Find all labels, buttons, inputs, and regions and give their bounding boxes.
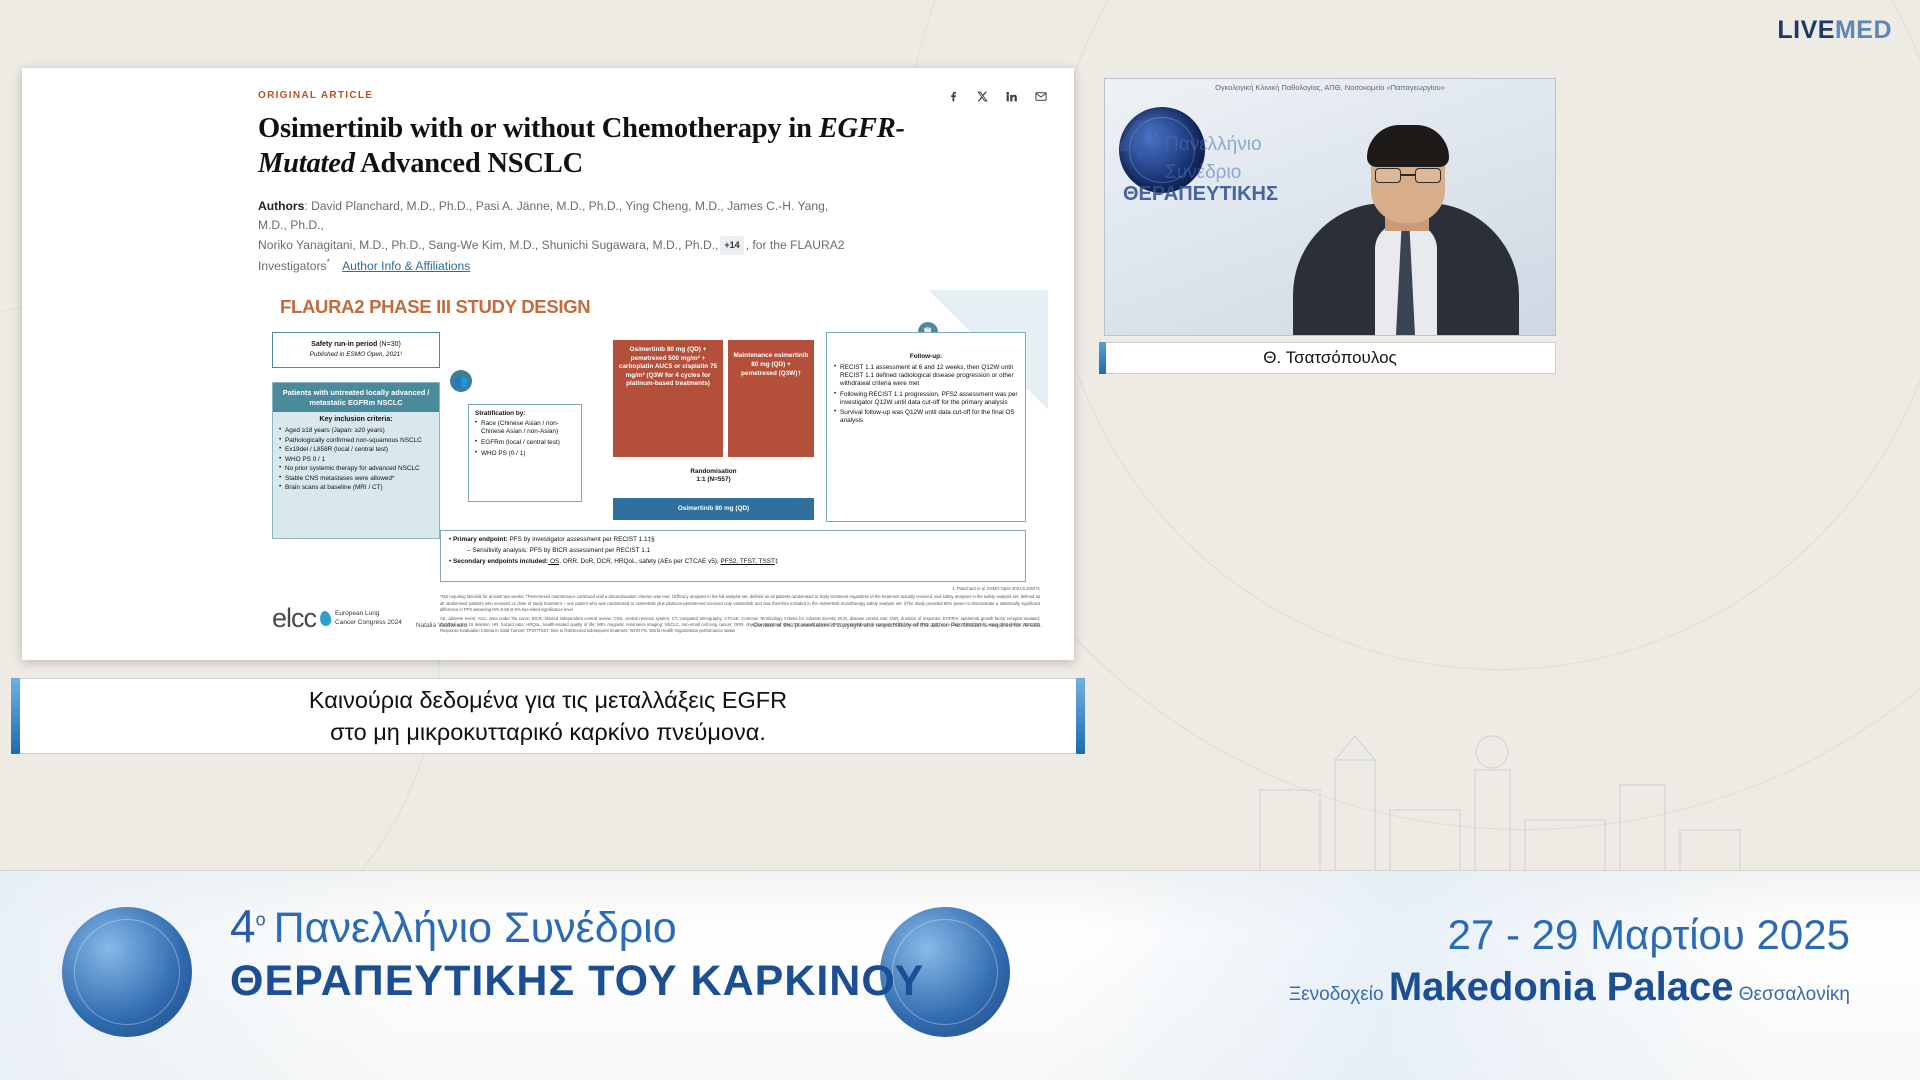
- banner-edition-number: 4ο: [230, 899, 266, 953]
- patients-population-box: Patients with untreated locally advanced…: [272, 382, 440, 539]
- primary-endpoint-row: • Primary endpoint: PFS by investigator …: [449, 536, 1017, 544]
- glasses-icon: [1375, 168, 1441, 183]
- banner-venue: Ξενοδοχείο Makedonia Palace Θεσσαλονίκη: [1289, 965, 1850, 1010]
- stratification-list: Race (Chinese Asian / non-Chinese Asian …: [475, 420, 575, 458]
- speaker-figure: [1293, 113, 1519, 335]
- figure-footer: elcc European Lung Cancer Congress 2024 …: [272, 603, 1042, 634]
- randomisation-label: Randomisation 1:1 (N=557): [613, 462, 814, 496]
- backdrop-number-sup: ο: [1150, 122, 1162, 144]
- speaker-name: Θ. Τσατσόπουλος: [1263, 348, 1397, 368]
- title-part-2: Advanced NSCLC: [355, 148, 583, 179]
- follow-up-header: Follow-up:: [834, 353, 1018, 361]
- backdrop-line-1: Πανελλήνιο: [1165, 134, 1262, 155]
- video-affiliation-caption: Ογκολογική Κλινική Παθολογίας, ΑΠΘ, Νοσο…: [1105, 83, 1555, 92]
- elcc-subtitle: European Lung Cancer Congress 2024: [335, 610, 402, 626]
- list-item: WHO PS 0 / 1: [279, 456, 434, 464]
- treatment-arm-maintenance-box: Maintenance osimertinib 80 mg (QD) + pem…: [728, 340, 814, 457]
- banner-venue-name: Makedonia Palace: [1389, 965, 1734, 1009]
- primary-endpoint-text: PFS by investigator assessment per RECIS…: [508, 536, 655, 543]
- banner-title-line-1: Πανελλήνιο Συνέδριο: [274, 904, 677, 953]
- title-em-1: EGFR-: [819, 113, 905, 144]
- secondary-endpoint-text: , ORR, DoR, DCR, HRQoL, safety (AEs per …: [559, 558, 720, 565]
- copyright-note: Content of this presentation is copyrigh…: [753, 622, 1042, 629]
- authors-line-2-tail: , for the FLAURA2: [746, 238, 845, 252]
- congress-banner: 4οΠανελλήνιο Συνέδριο ΘΕΡΑΠΕΥΤΙΚΗΣ ΤΟΥ Κ…: [0, 870, 1920, 1080]
- list-item: No prior systemic therapy for advanced N…: [279, 465, 434, 473]
- title-em-2: Mutated: [258, 148, 355, 179]
- livemed-med-text: MED: [1835, 16, 1892, 44]
- page-title: Osimertinib with or without Chemotherapy…: [258, 112, 1048, 182]
- list-item: Aged ≥18 years (Japan: ≥20 years): [279, 427, 434, 435]
- authors-block: Authors: David Planchard, M.D., Ph.D., P…: [258, 197, 858, 277]
- list-item: Ex19del / L858R (local / central test): [279, 446, 434, 454]
- flaura2-study-design-figure: FLAURA2 PHASE III STUDY DESIGN Safety ru…: [258, 290, 1048, 638]
- list-item: Following RECIST 1.1 progression, PFS2 a…: [834, 391, 1018, 407]
- list-item: Race (Chinese Asian / non-Chinese Asian …: [475, 420, 575, 436]
- safety-run-in-box: Safety run-in period (N=30) Published in…: [272, 332, 440, 368]
- banner-left-text: 4οΠανελλήνιο Συνέδριο ΘΕΡΑΠΕΥΤΙΚΗΣ ΤΟΥ Κ…: [230, 899, 924, 1006]
- follow-up-box: Follow-up: RECIST 1.1 assessment at 6 an…: [826, 332, 1026, 522]
- app-root: LIVEMED ORIGINAL ARTICLE Osimertinib wit…: [0, 0, 1920, 1080]
- secondary-os: OS: [548, 558, 559, 565]
- banner-venue-prefix: Ξενοδοχείο: [1289, 984, 1389, 1005]
- globe-icon-left: [62, 907, 192, 1037]
- banner-dates-range: 27 - 29: [1448, 911, 1579, 958]
- presenter-name: Natalia Valdiviezo: [416, 622, 467, 629]
- stratification-box: Stratification by: Race (Chinese Asian /…: [468, 404, 582, 502]
- list-item: RECIST 1.1 assessment at 6 and 12 weeks,…: [834, 364, 1018, 388]
- author-info-link[interactable]: Author Info & Affiliations: [342, 259, 470, 273]
- randomisation-title: Randomisation: [613, 468, 814, 476]
- people-icon: 👥: [450, 370, 472, 392]
- list-item: Pathologically confirmed non-squamous NS…: [279, 437, 434, 445]
- reference-line: 1. Planchard et al. ESMO Open 2021;6:100…: [440, 586, 1040, 592]
- treatment-arm-combination-box: Osimertinib 80 mg (QD) + pemetrexed 500 …: [613, 340, 723, 457]
- banner-number-sup: ο: [256, 910, 266, 930]
- video-backdrop-text: Πανελλήνιο Συνέδριο: [1165, 131, 1262, 186]
- authors-line-3: Investigators: [258, 259, 327, 273]
- authors-line-2: Noriko Yanagitani, M.D., Ph.D., Sang-We …: [258, 238, 718, 252]
- authors-asterisk: *: [327, 257, 331, 267]
- safety-n: (N=30): [377, 341, 401, 348]
- livemed-live-text: LIVE: [1777, 16, 1835, 44]
- safety-published: Published in ESMO Open, 2021¹: [310, 351, 403, 359]
- backdrop-line-2: Συνέδριο: [1165, 162, 1241, 183]
- elcc-logo: elcc European Lung Cancer Congress 2024: [272, 603, 402, 634]
- banner-dates: 27 - 29 Μαρτίου 2025: [1289, 911, 1850, 959]
- elcc-sub-line-1: European Lung: [335, 610, 379, 617]
- water-drop-icon: [319, 610, 332, 627]
- authors-line-1: : David Planchard, M.D., Ph.D., Pasi A. …: [258, 199, 828, 233]
- subtitle-line-1: Καινούρια δεδομένα για τις μεταλλάξεις E…: [309, 684, 787, 716]
- article-kicker: ORIGINAL ARTICLE: [258, 90, 1048, 101]
- endpoints-box: • Primary endpoint: PFS by investigator …: [440, 530, 1026, 582]
- subtitle-caption-box: Καινούρια δεδομένα για τις μεταλλάξεις E…: [18, 678, 1078, 754]
- livemed-logo: LIVEMED: [1777, 16, 1892, 45]
- list-item: WHO PS (0 / 1): [475, 450, 575, 458]
- title-part-1: Osimertinib with or without Chemotherapy…: [258, 113, 819, 144]
- patients-header: Patients with untreated locally advanced…: [273, 383, 439, 412]
- list-item: Stable CNS metastases were allowed*: [279, 475, 434, 483]
- list-item: Survival follow-up was Q12W until data c…: [834, 409, 1018, 425]
- subtitle-line-2: στο μη μικροκυτταρικό καρκίνο πνεύμονα.: [330, 716, 766, 748]
- primary-endpoint-label: Primary endpoint:: [453, 536, 508, 543]
- inclusion-criteria-list: Aged ≥18 years (Japan: ≥20 years) Pathol…: [273, 427, 439, 498]
- speaker-name-bar: Θ. Τσατσόπουλος: [1104, 342, 1556, 374]
- elcc-sub-line-2: Cancer Congress 2024: [335, 619, 402, 626]
- sensitivity-analysis-row: – Sensitivity analysis: PFS by BICR asse…: [449, 547, 1017, 555]
- banner-right-text: 27 - 29 Μαρτίου 2025 Ξενοδοχείο Makedoni…: [1289, 911, 1850, 1010]
- figure-title: FLAURA2 PHASE III STUDY DESIGN: [280, 296, 590, 318]
- speaker-video-panel[interactable]: Ογκολογική Κλινική Παθολογίας, ΑΠΘ, Νοσο…: [1104, 78, 1556, 336]
- banner-number-value: 4: [230, 900, 256, 952]
- list-item: EGFRm (local / central test): [475, 439, 575, 447]
- list-item: Brain scans at baseline (MRI / CT): [279, 484, 434, 492]
- secondary-endpoint-links: PFS2, TFST, TSST: [720, 558, 774, 565]
- secondary-endpoint-tail: ‡: [775, 558, 779, 565]
- video-backdrop-number: 4ο: [1119, 113, 1162, 166]
- secondary-endpoint-label: Secondary endpoints included:: [453, 558, 548, 565]
- follow-up-list: RECIST 1.1 assessment at 6 and 12 weeks,…: [834, 364, 1018, 425]
- banner-venue-city: Θεσσαλονίκη: [1733, 984, 1850, 1005]
- banner-dates-month: Μαρτίου 2025: [1578, 911, 1850, 958]
- authors-label: Authors: [258, 199, 304, 213]
- banner-title-line-2: ΘΕΡΑΠΕΥΤΙΚΗΣ ΤΟΥ ΚΑΡΚΙΝΟΥ: [230, 957, 924, 1006]
- backdrop-line-3: ΘΕΡΑΠΕΥΤΙΚΗΣ: [1123, 183, 1278, 206]
- patients-subheader: Key inclusion criteria:: [273, 412, 439, 427]
- randomisation-ratio: 1:1 (N=557): [613, 476, 814, 484]
- slide-panel[interactable]: ORIGINAL ARTICLE Osimertinib with or wit…: [22, 68, 1074, 660]
- backdrop-number-value: 4: [1119, 108, 1150, 171]
- stratification-header: Stratification by:: [475, 410, 575, 418]
- treatment-arm-monotherapy-box: Osimertinib 80 mg (QD): [613, 498, 814, 520]
- secondary-endpoints-row: • Secondary endpoints included: OS, ORR,…: [449, 558, 1017, 566]
- elcc-wordmark: elcc: [272, 603, 316, 634]
- authors-more-badge[interactable]: +14: [720, 236, 743, 255]
- safety-label: Safety run-in period: [311, 341, 377, 348]
